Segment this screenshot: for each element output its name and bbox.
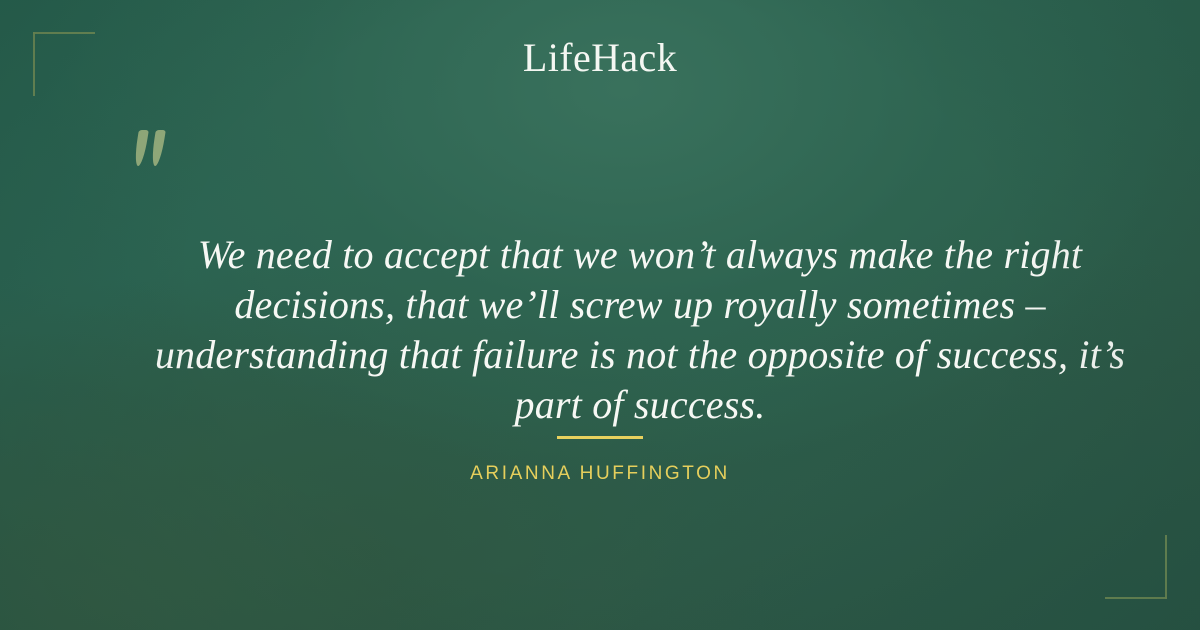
attribution-divider: [557, 436, 643, 439]
quote-text: We need to accept that we won’t always m…: [135, 230, 1145, 430]
corner-bracket-vertical-rule: [1165, 535, 1167, 599]
corner-bracket-bottom-right-icon: [1105, 535, 1167, 599]
quote-line: decisions, that we’ll screw up royally s…: [135, 280, 1145, 330]
quote-author: ARIANNA HUFFINGTON: [0, 463, 1200, 485]
quote-line: We need to accept that we won’t always m…: [135, 230, 1145, 280]
quote-line: understanding that failure is not the op…: [135, 330, 1145, 380]
quotation-mark-icon: [130, 122, 178, 174]
quote-card: LifeHack We need to accept that we won’t…: [0, 0, 1200, 630]
quote-line: part of success.: [135, 380, 1145, 430]
corner-bracket-horizontal-rule: [33, 32, 95, 34]
quotation-stroke-right: [150, 130, 166, 166]
corner-bracket-horizontal-rule: [1105, 597, 1167, 599]
lifehack-logo: LifeHack: [0, 38, 1200, 78]
quotation-stroke-left: [133, 130, 149, 166]
